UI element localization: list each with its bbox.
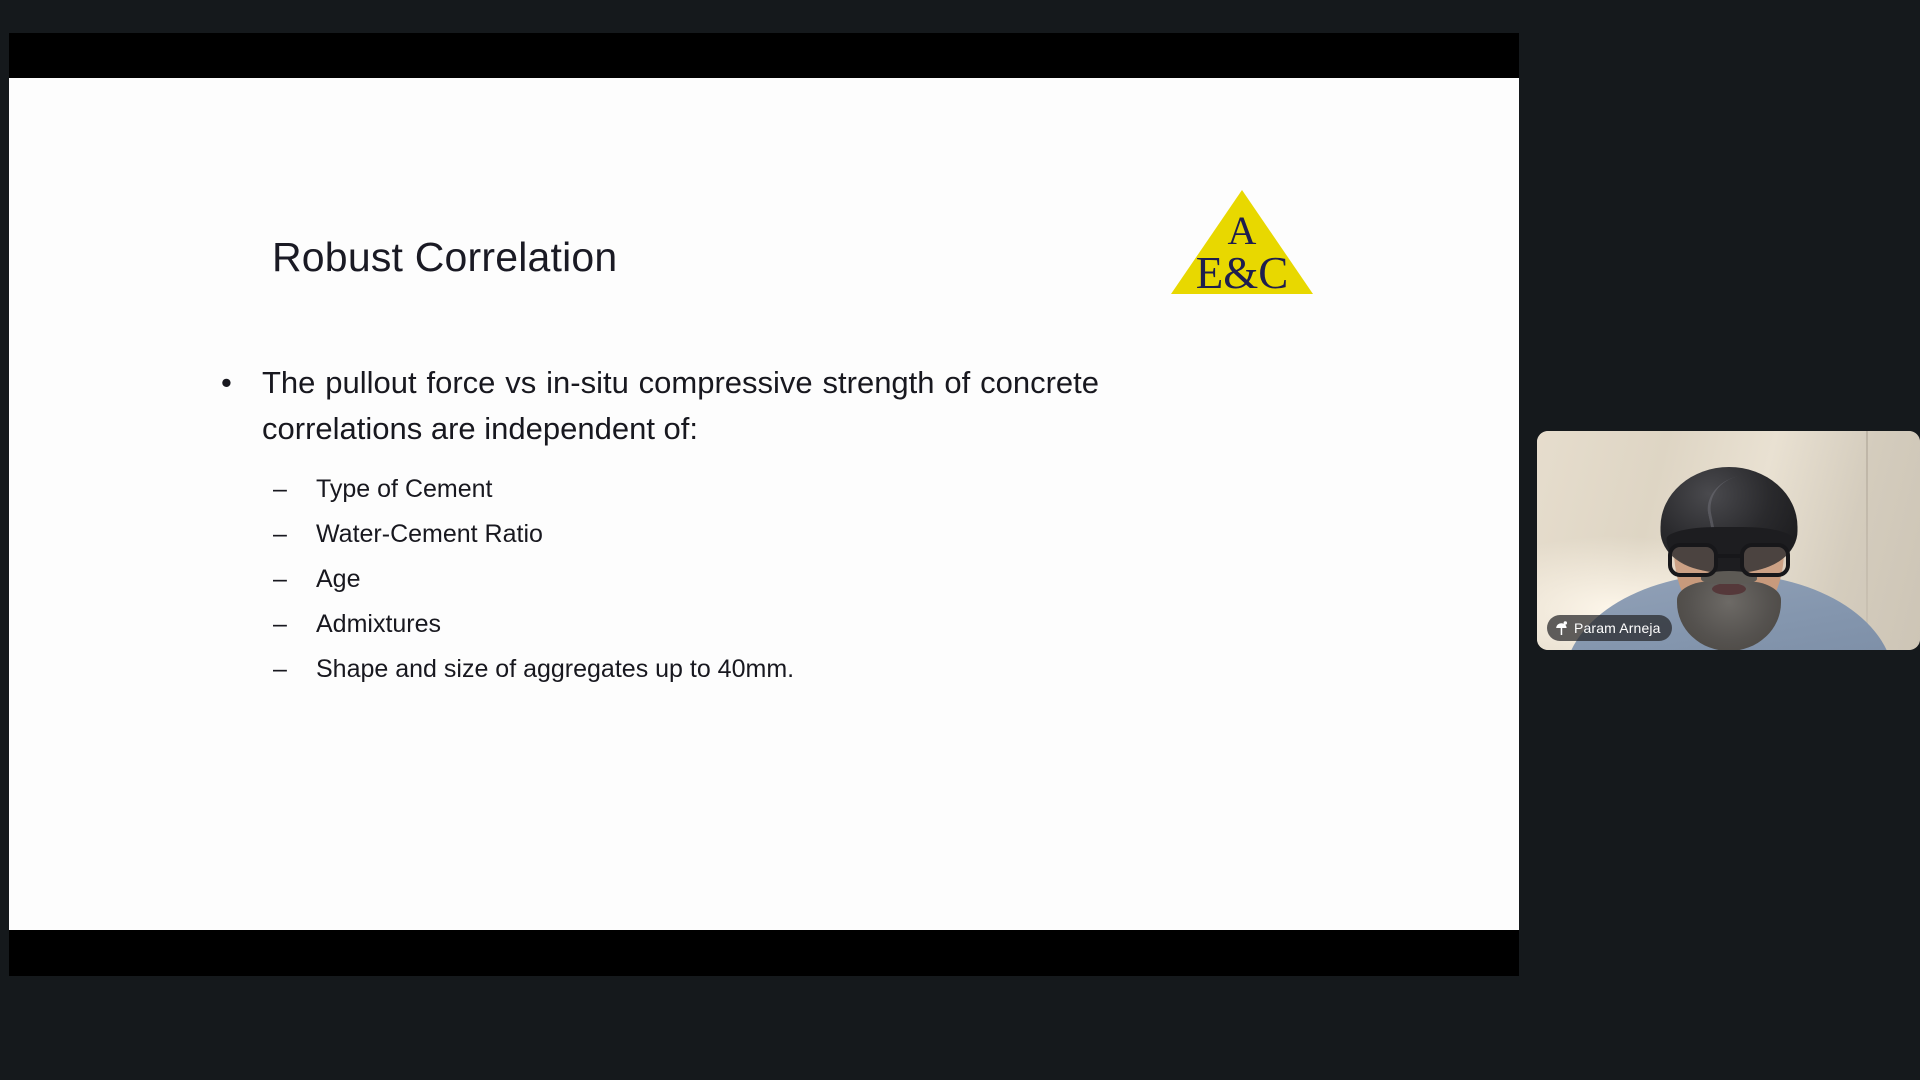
bullet-marker-icon: •: [221, 360, 232, 406]
list-item-label: Shape and size of aggregates up to 40mm.: [316, 655, 794, 683]
presentation-slide[interactable]: Robust Correlation A E&C • The pullout f…: [9, 78, 1519, 930]
list-item-label: Admixtures: [316, 610, 441, 638]
list-item: – Shape and size of aggregates up to 40m…: [273, 647, 1209, 692]
aec-triangle-logo: A E&C: [1169, 188, 1315, 296]
eyeglasses: [1668, 543, 1790, 577]
wall-seam: [1866, 431, 1868, 650]
logo-letter-a: A: [1228, 208, 1257, 253]
dash-marker-icon: –: [273, 647, 287, 692]
participant-name-label: Param Arneja: [1574, 620, 1661, 636]
list-item-label: Type of Cement: [316, 475, 492, 503]
participant-mouth: [1712, 583, 1746, 595]
dash-marker-icon: –: [273, 467, 287, 512]
slide-title: Robust Correlation: [272, 234, 617, 281]
participant-video-tile[interactable]: Param Arneja: [1537, 431, 1920, 650]
main-bullet-item: • The pullout force vs in-situ compressi…: [209, 360, 1099, 452]
dash-marker-icon: –: [273, 602, 287, 647]
list-item: – Water-Cement Ratio: [273, 512, 1209, 557]
slide-body: • The pullout force vs in-situ compressi…: [209, 360, 1209, 692]
pin-icon: [1555, 621, 1568, 636]
sub-bullet-list: – Type of Cement – Water-Cement Ratio – …: [209, 467, 1209, 692]
lens-left: [1668, 543, 1718, 577]
list-item-label: Age: [316, 565, 360, 593]
list-item-label: Water-Cement Ratio: [316, 520, 543, 548]
glasses-bridge: [1718, 554, 1740, 558]
list-item: – Admixtures: [273, 602, 1209, 647]
dash-marker-icon: –: [273, 512, 287, 557]
list-item: – Age: [273, 557, 1209, 602]
dash-marker-icon: –: [273, 557, 287, 602]
logo-letters-ec: E&C: [1196, 248, 1289, 296]
main-bullet-text: The pullout force vs in-situ compressive…: [262, 365, 1099, 446]
list-item: – Type of Cement: [273, 467, 1209, 512]
conference-screen: Robust Correlation A E&C • The pullout f…: [0, 0, 1920, 1080]
participant-name-badge: Param Arneja: [1547, 615, 1672, 641]
lens-right: [1740, 543, 1790, 577]
shared-screen-panel[interactable]: Robust Correlation A E&C • The pullout f…: [9, 33, 1519, 976]
turban-fold: [1701, 471, 1772, 535]
